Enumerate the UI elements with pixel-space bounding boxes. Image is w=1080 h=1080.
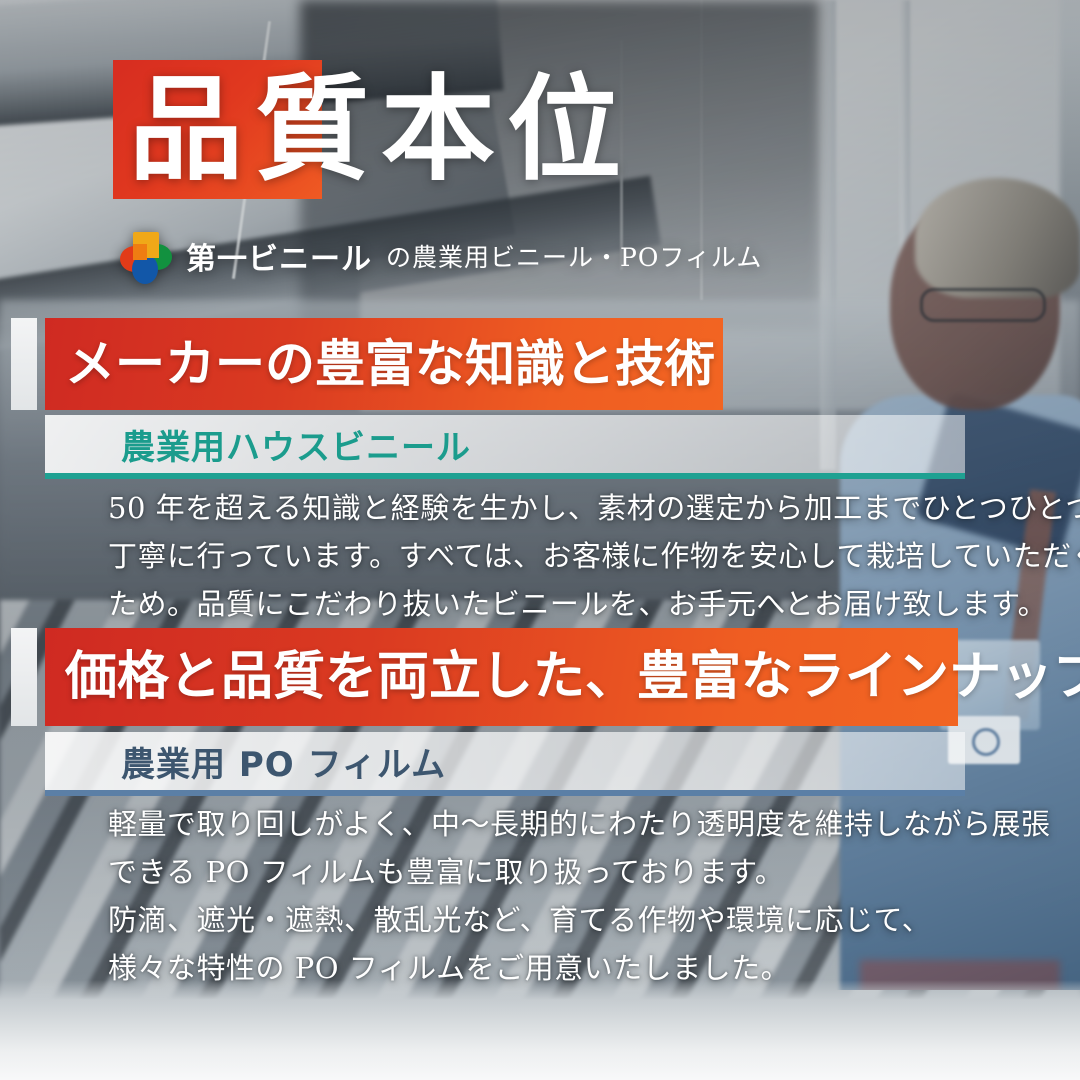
- section-heading-2-label: 農業用 PO フィルム: [45, 737, 446, 786]
- body-line: 丁寧に行っています。すべては、お客様に作物を安心して栽培していただく: [108, 532, 958, 580]
- section-heading-1: 農業用ハウスビニール: [45, 415, 965, 479]
- section-body-2: 軽量で取り回しがよく、中〜長期的にわたり透明度を維持しながら展張 できる PO …: [108, 800, 958, 992]
- promo-banner-page: 品質本位 第一ビニール の農業用ビニール・POフィルム メーカーの豊富な知識と技…: [0, 0, 1080, 1080]
- content-overlay: 品質本位 第一ビニール の農業用ビニール・POフィルム メーカーの豊富な知識と技…: [0, 0, 1080, 1080]
- brand-name: 第一ビニール: [186, 234, 372, 278]
- body-line: 様々な特性の PO フィルムをご用意いたしました。: [108, 944, 958, 992]
- section-heading-2: 農業用 PO フィルム: [45, 732, 965, 796]
- brand-tagline: の農業用ビニール・POフィルム: [386, 238, 762, 274]
- brand-line: 第一ビニール の農業用ビニール・POフィルム: [120, 228, 762, 284]
- banner-left-accent-2: [11, 628, 37, 726]
- section-banner-2: 価格と品質を両立した、豊富なラインナップ: [45, 628, 958, 726]
- page-title: 品質本位: [129, 62, 749, 196]
- body-line: ため。品質にこだわり抜いたビニールを、お手元へとお届け致します。: [108, 580, 958, 628]
- banner-left-accent-1: [11, 318, 37, 410]
- body-line: 軽量で取り回しがよく、中〜長期的にわたり透明度を維持しながら展張: [108, 800, 958, 848]
- section-body-1: 50 年を超える知識と経験を生かし、素材の選定から加工までひとつひとつ 丁寧に行…: [108, 484, 958, 628]
- section-banner-2-label: 価格と品質を両立した、豊富なラインナップ: [45, 628, 1080, 726]
- body-line: 50 年を超える知識と経験を生かし、素材の選定から加工までひとつひとつ: [108, 484, 958, 532]
- section-heading-1-label: 農業用ハウスビニール: [45, 420, 471, 469]
- four-petal-logo-icon: [120, 230, 172, 282]
- logo-square-orange: [133, 244, 147, 260]
- body-line: できる PO フィルムも豊富に取り扱っております。: [108, 848, 958, 896]
- section-banner-1: メーカーの豊富な知識と技術: [45, 318, 723, 410]
- section-banner-1-label: メーカーの豊富な知識と技術: [45, 318, 715, 410]
- body-line: 防滴、遮光・遮熱、散乱光など、育てる作物や環境に応じて、: [108, 896, 958, 944]
